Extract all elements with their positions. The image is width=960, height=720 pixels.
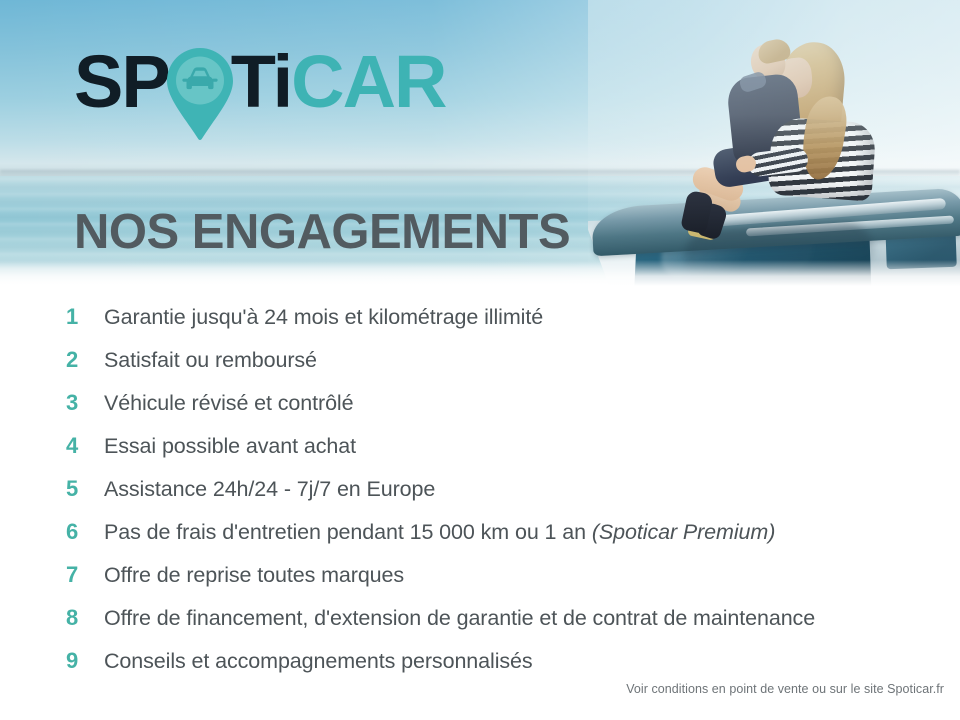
logo-text-prefix: SP xyxy=(74,45,169,119)
commitment-text-main: Conseils et accompagnements personnalisé… xyxy=(104,649,533,673)
commitment-number: 9 xyxy=(66,648,104,674)
commitment-text: Satisfait ou remboursé xyxy=(104,347,317,373)
logo-text-suffix: CAR xyxy=(291,45,445,119)
commitment-text: Conseils et accompagnements personnalisé… xyxy=(104,648,533,674)
commitment-text-main: Assistance 24h/24 - 7j/7 en Europe xyxy=(104,477,435,501)
commitment-row: 7Offre de reprise toutes marques xyxy=(0,562,960,605)
spoticar-logo[interactable]: SP Ti CAR xyxy=(74,44,445,120)
commitment-number: 7 xyxy=(66,562,104,588)
spoticar-commitments-poster: SP Ti CAR NOS ENGAGEMENTS xyxy=(0,0,960,720)
commitment-text-main: Pas de frais d'entretien pendant 15 000 … xyxy=(104,520,592,544)
commitment-text-main: Véhicule révisé et contrôlé xyxy=(104,391,353,415)
commitment-text-main: Garantie jusqu'à 24 mois et kilométrage … xyxy=(104,305,543,329)
commitment-text: Assistance 24h/24 - 7j/7 en Europe xyxy=(104,476,435,502)
commitment-text-main: Offre de reprise toutes marques xyxy=(104,563,404,587)
commitment-text: Offre de reprise toutes marques xyxy=(104,562,404,588)
commitment-number: 3 xyxy=(66,390,104,416)
commitment-text: Garantie jusqu'à 24 mois et kilométrage … xyxy=(104,304,543,330)
logo-text-middle: Ti xyxy=(231,45,291,119)
map-pin-car-icon xyxy=(165,46,235,142)
commitment-row: 6Pas de frais d'entretien pendant 15 000… xyxy=(0,519,960,562)
photo-haze-overlay xyxy=(588,0,960,286)
commitment-row: 1Garantie jusqu'à 24 mois et kilométrage… xyxy=(0,304,960,347)
commitment-row: 8Offre de financement, d'extension de ga… xyxy=(0,605,960,648)
commitment-number: 8 xyxy=(66,605,104,631)
hero-bottom-fade xyxy=(0,260,960,286)
commitment-row: 2Satisfait ou remboursé xyxy=(0,347,960,390)
commitment-number: 5 xyxy=(66,476,104,502)
commitment-text-emphasis: (Spoticar Premium) xyxy=(592,520,775,544)
legal-notice: Voir conditions en point de vente ou sur… xyxy=(626,682,944,696)
commitments-list: 1Garantie jusqu'à 24 mois et kilométrage… xyxy=(0,304,960,691)
commitment-text: Offre de financement, d'extension de gar… xyxy=(104,605,815,631)
commitment-number: 2 xyxy=(66,347,104,373)
commitment-text-main: Offre de financement, d'extension de gar… xyxy=(104,606,815,630)
commitment-number: 1 xyxy=(66,304,104,330)
commitment-text-main: Essai possible avant achat xyxy=(104,434,356,458)
commitment-number: 4 xyxy=(66,433,104,459)
commitment-text: Pas de frais d'entretien pendant 15 000 … xyxy=(104,519,775,545)
commitment-text: Essai possible avant achat xyxy=(104,433,356,459)
commitment-number: 6 xyxy=(66,519,104,545)
hero-banner: SP Ti CAR NOS ENGAGEMENTS xyxy=(0,0,960,286)
commitment-row: 3Véhicule révisé et contrôlé xyxy=(0,390,960,433)
hero-photo xyxy=(588,0,960,286)
commitment-text: Véhicule révisé et contrôlé xyxy=(104,390,353,416)
commitment-row: 4Essai possible avant achat xyxy=(0,433,960,476)
page-title: NOS ENGAGEMENTS xyxy=(74,204,570,260)
commitment-text-main: Satisfait ou remboursé xyxy=(104,348,317,372)
commitment-row: 5Assistance 24h/24 - 7j/7 en Europe xyxy=(0,476,960,519)
